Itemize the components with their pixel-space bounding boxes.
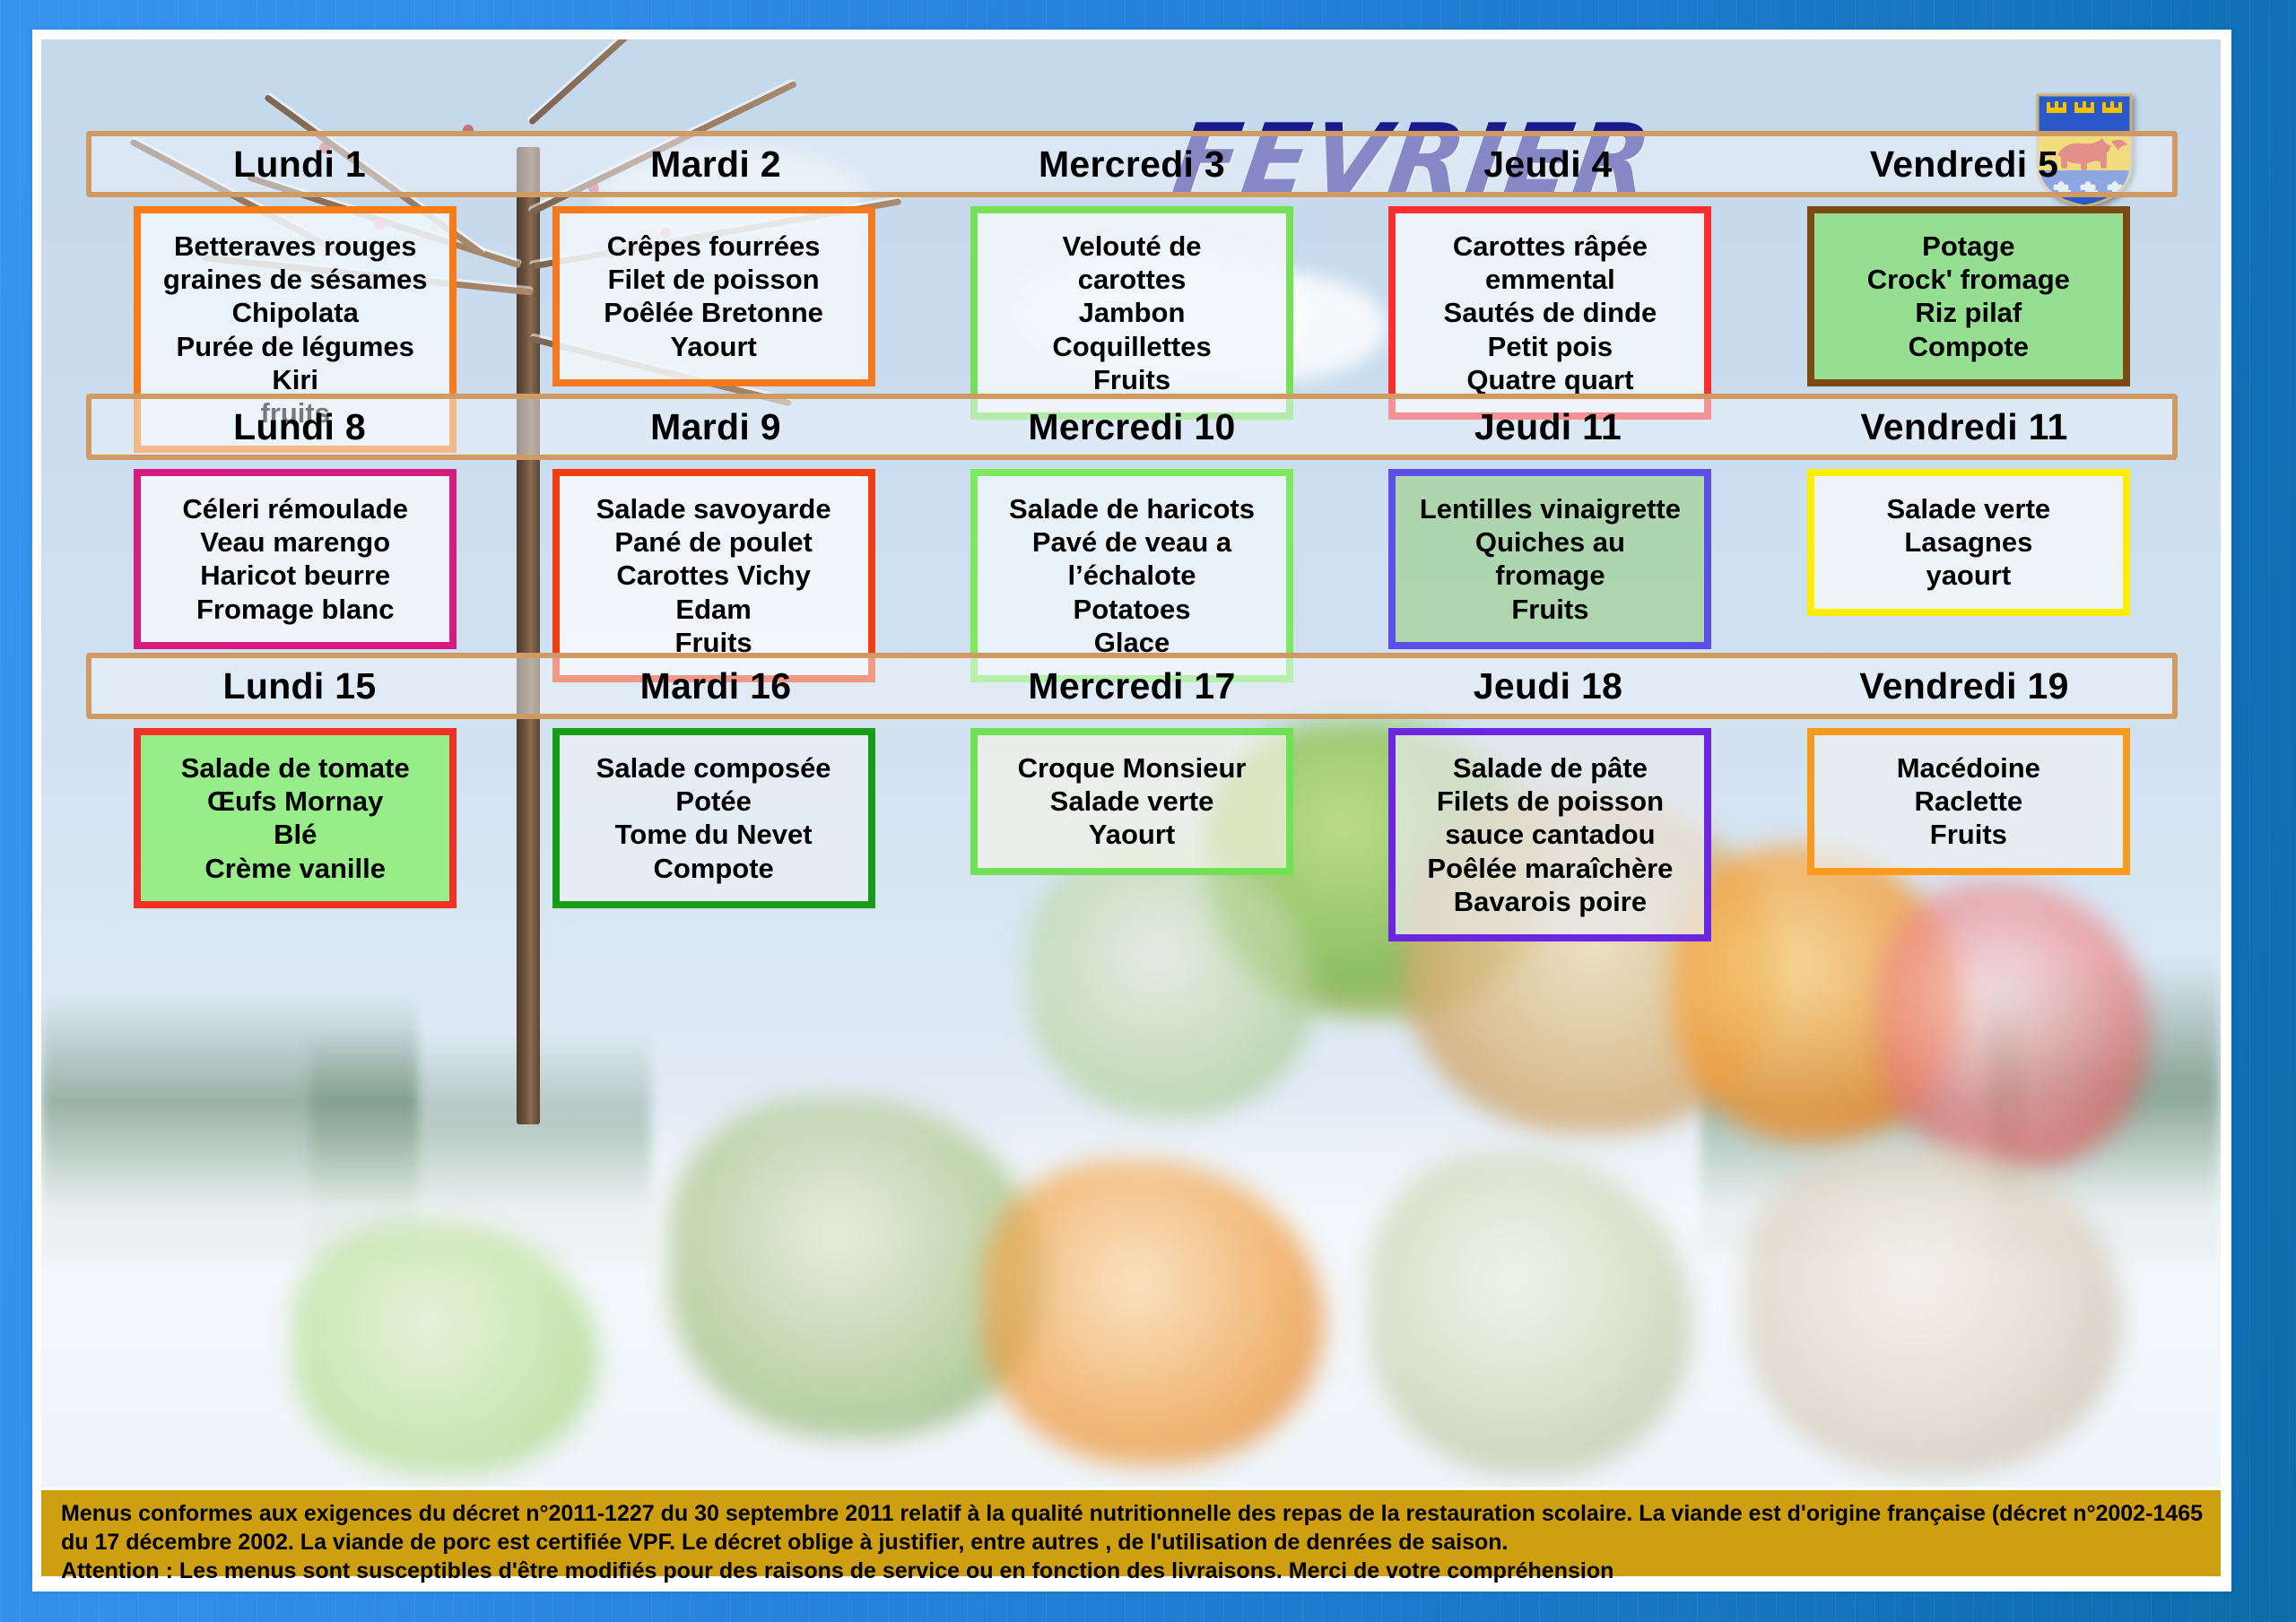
menu-item: Lasagnes	[1823, 525, 2114, 559]
menu-item: Macédoine	[1823, 751, 2114, 785]
menu-item: Compote	[1823, 330, 2114, 363]
menu-item: Œufs Mornay	[150, 785, 440, 818]
menu-box: Céleri rémouladeVeau marengoHaricot beur…	[134, 469, 457, 649]
menu-item: Sautés de dinde	[1405, 296, 1695, 329]
menu-item: Yaourt	[569, 330, 859, 363]
menu-item: Haricot beurre	[150, 559, 440, 592]
day-header: Mercredi 17	[924, 665, 1340, 707]
menu-item: Salade composée	[569, 751, 859, 785]
menu-item: graines de sésames	[150, 263, 440, 296]
day-header: Mardi 9	[508, 406, 924, 448]
menu-item: Bavarois poire	[1405, 885, 1695, 918]
menu-box: MacédoineRacletteFruits	[1807, 728, 2130, 875]
menu-item: Jambon	[987, 296, 1277, 329]
menu-item: Crêpes fourrées	[569, 230, 859, 263]
menu-item: Salade de tomate	[150, 751, 440, 785]
menu-item: Potée	[569, 785, 859, 818]
menu-item: sauce cantadou	[1405, 818, 1695, 851]
menu-item: Coquillettes	[987, 330, 1277, 363]
footer-line: du 17 décembre 2002. La viande de porc e…	[61, 1528, 2201, 1557]
menu-item: Velouté de	[987, 230, 1277, 263]
week-block-3: Lundi 15 Mardi 16 Mercredi 17 Jeudi 18 V…	[86, 653, 2178, 941]
footer-line: Menus conformes aux exigences du décret …	[61, 1499, 2201, 1528]
menu-item: Quiches au	[1405, 525, 1695, 559]
menu-item: Blé	[150, 818, 440, 851]
day-header: Lundi 15	[91, 665, 508, 707]
day-header: Lundi 8	[91, 406, 508, 448]
menu-item: Betteraves rouges	[150, 230, 440, 263]
legal-footer: Menus conformes aux exigences du décret …	[41, 1490, 2221, 1576]
day-header-row: Lundi 15 Mardi 16 Mercredi 17 Jeudi 18 V…	[86, 653, 2178, 719]
menu-item: Poêlée maraîchère	[1405, 852, 1695, 885]
menu-row: Salade de tomateŒufs MornayBléCrème vani…	[86, 728, 2178, 941]
menu-item: Lentilles vinaigrette	[1405, 492, 1695, 525]
menu-item: Céleri rémoulade	[150, 492, 440, 525]
day-header: Jeudi 4	[1340, 143, 1756, 186]
day-header: Mardi 16	[508, 665, 924, 707]
day-header: Mardi 2	[508, 143, 924, 186]
menu-item: Salade verte	[1823, 492, 2114, 525]
menu-item: Compote	[569, 852, 859, 885]
menu-item: Salade savoyarde	[569, 492, 859, 525]
menu-item: Tome du Nevet	[569, 818, 859, 851]
menu-item: Pavé de veau a	[987, 525, 1277, 559]
menu-poster: FEVRIER	[41, 39, 2221, 1487]
day-header: Vendredi 11	[1756, 406, 2172, 448]
menu-item: carottes	[987, 263, 1277, 296]
day-header-row: Lundi 8 Mardi 9 Mercredi 10 Jeudi 11 Ven…	[86, 394, 2178, 460]
menu-item: emmental	[1405, 263, 1695, 296]
menu-item: Crème vanille	[150, 852, 440, 885]
menu-box: PotageCrock' fromageRiz pilafCompote	[1807, 206, 2130, 386]
menu-box: Salade de haricotsPavé de veau al’échalo…	[970, 469, 1293, 682]
menu-item: Salade de haricots	[987, 492, 1277, 525]
footer-line: Attention : Les menus sont susceptibles …	[61, 1557, 2201, 1585]
menu-item: Poêlée Bretonne	[569, 296, 859, 329]
menu-item: Edam	[569, 593, 859, 626]
day-header: Mercredi 3	[924, 143, 1340, 186]
day-header: Mercredi 10	[924, 406, 1340, 448]
menu-item: Yaourt	[987, 818, 1277, 851]
menu-item: fromage	[1405, 559, 1695, 592]
menu-box: Salade savoyardePané de pouletCarottes V…	[552, 469, 875, 682]
menu-item: Filets de poisson	[1405, 785, 1695, 818]
menu-item: Petit pois	[1405, 330, 1695, 363]
menu-box: Crêpes fourréesFilet de poissonPoêlée Br…	[552, 206, 875, 386]
menu-box: Lentilles vinaigretteQuiches aufromageFr…	[1388, 469, 1711, 649]
day-header: Vendredi 19	[1756, 665, 2172, 707]
menu-item: Fruits	[1823, 818, 2114, 851]
menu-item: Pané de poulet	[569, 525, 859, 559]
menu-box: Carottes râpéeemmentalSautés de dindePet…	[1388, 206, 1711, 420]
menu-item: Purée de légumes	[150, 330, 440, 363]
menu-item: yaourt	[1823, 559, 2114, 592]
menu-item: Salade de pâte	[1405, 751, 1695, 785]
day-header: Jeudi 18	[1340, 665, 1756, 707]
week-block-2: Lundi 8 Mardi 9 Mercredi 10 Jeudi 11 Ven…	[86, 394, 2178, 682]
day-header: Vendredi 5	[1756, 143, 2172, 186]
menu-item: Fruits	[987, 363, 1277, 396]
menu-box: Salade de tomateŒufs MornayBléCrème vani…	[134, 728, 457, 908]
menu-item: Quatre quart	[1405, 363, 1695, 396]
menu-item: Salade verte	[987, 785, 1277, 818]
menu-item: Potatoes	[987, 593, 1277, 626]
menu-box: Salade verteLasagnesyaourt	[1807, 469, 2130, 616]
menu-item: Carottes Vichy	[569, 559, 859, 592]
day-header-row: Lundi 1 Mardi 2 Mercredi 3 Jeudi 4 Vendr…	[86, 131, 2178, 197]
menu-item: Croque Monsieur	[987, 751, 1277, 785]
menu-box: Croque MonsieurSalade verteYaourt	[970, 728, 1293, 875]
menu-item: l’échalote	[987, 559, 1277, 592]
menu-box: Velouté decarottesJambonCoquillettesFrui…	[970, 206, 1293, 420]
menu-item: Crock' fromage	[1823, 263, 2114, 296]
poster-page: FEVRIER	[0, 0, 2296, 1622]
menu-item: Riz pilaf	[1823, 296, 2114, 329]
menu-item: Raclette	[1823, 785, 2114, 818]
day-header: Lundi 1	[91, 143, 508, 186]
menu-item: Fromage blanc	[150, 593, 440, 626]
day-header: Jeudi 11	[1340, 406, 1756, 448]
menu-box: Salade composéePotéeTome du NevetCompote	[552, 728, 875, 908]
menu-item: Veau marengo	[150, 525, 440, 559]
menu-row: Céleri rémouladeVeau marengoHaricot beur…	[86, 469, 2178, 682]
menu-item: Kiri	[150, 363, 440, 396]
menu-item: Filet de poisson	[569, 263, 859, 296]
menu-item: Fruits	[1405, 593, 1695, 626]
menu-item: Potage	[1823, 230, 2114, 263]
menu-item: Carottes râpée	[1405, 230, 1695, 263]
menu-box: Salade de pâteFilets de poissonsauce can…	[1388, 728, 1711, 941]
menu-item: Chipolata	[150, 296, 440, 329]
